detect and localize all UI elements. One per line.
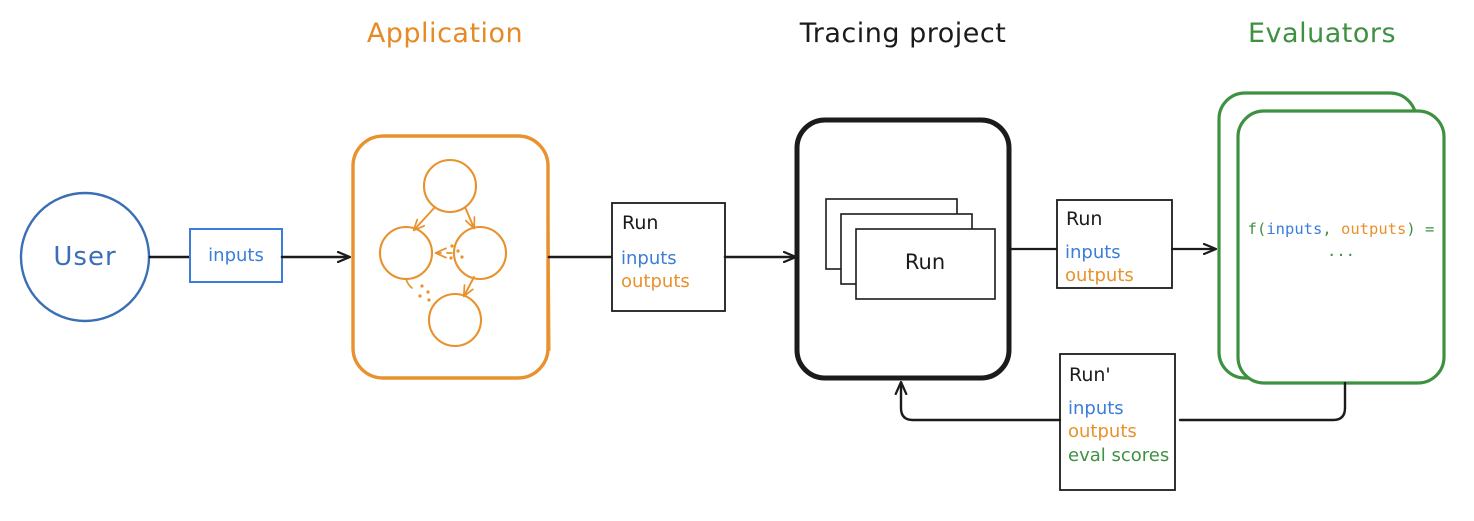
evaluator-code-arg-inputs: inputs — [1266, 220, 1322, 238]
inputs-box-label: inputs — [208, 245, 264, 266]
run-prime-field-outputs: outputs — [1068, 421, 1137, 442]
evaluator-code-line-1: f(inputs, outputs) = — [1248, 218, 1435, 240]
run-box-2-title: Run — [1066, 208, 1102, 230]
evaluator-code-block: f(inputs, outputs) = ... — [1248, 218, 1435, 263]
evaluator-code-arg-outputs: outputs — [1341, 220, 1406, 238]
run-box-1-title: Run — [622, 212, 658, 234]
user-label: User — [53, 242, 116, 272]
evaluator-code-tail: ) = — [1406, 220, 1434, 238]
run-prime-field-eval-scores: eval scores — [1068, 445, 1169, 466]
evaluator-code-separator: , — [1322, 220, 1341, 238]
graph-node-top — [424, 160, 476, 212]
graph-node-bottom — [429, 294, 481, 346]
tracing-run-card-label: Run — [905, 250, 945, 274]
header-tracing-project: Tracing project — [800, 18, 1007, 49]
header-evaluators: Evaluators — [1248, 18, 1396, 49]
diagram-canvas: Application Tracing project Evaluators U… — [0, 0, 1474, 521]
connector-runprime-to-tracing — [901, 383, 1060, 420]
graph-node-left — [380, 227, 432, 279]
run-prime-box-title: Run' — [1069, 364, 1111, 386]
connector-evaluators-to-runprime — [1180, 383, 1345, 420]
graph-node-right — [454, 227, 506, 279]
run-prime-field-inputs: inputs — [1068, 398, 1124, 419]
run-box-2-field-outputs: outputs — [1065, 265, 1134, 286]
run-box-1-field-inputs: inputs — [621, 248, 677, 269]
run-box-1-field-outputs: outputs — [621, 271, 690, 292]
run-box-2-field-inputs: inputs — [1065, 242, 1121, 263]
header-application: Application — [367, 18, 523, 49]
evaluator-code-fn: f( — [1248, 220, 1267, 238]
evaluator-code-ellipsis: ... — [1248, 240, 1435, 262]
